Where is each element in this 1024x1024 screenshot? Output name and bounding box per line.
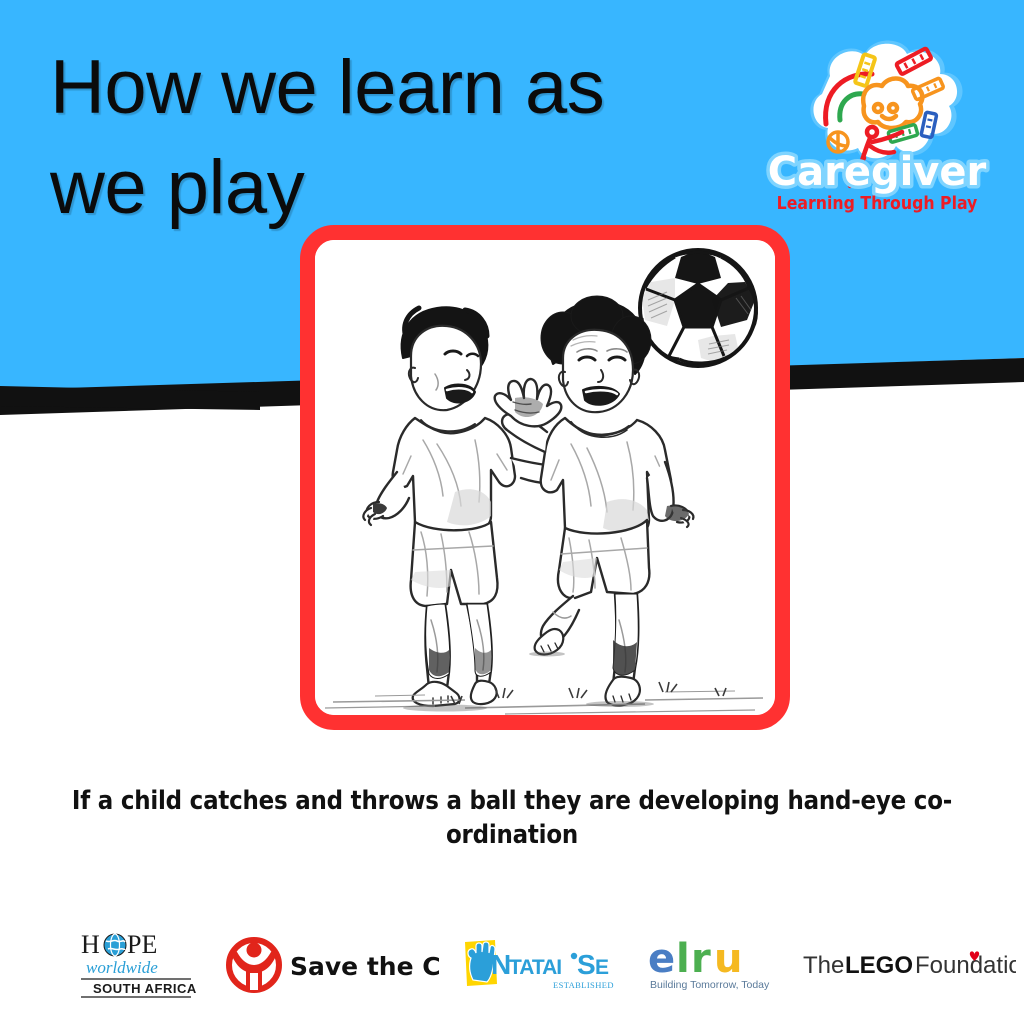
- elru-letter-l: l: [676, 936, 690, 982]
- elru-letter-e: e: [648, 936, 675, 982]
- lego-the-text: The: [803, 952, 844, 979]
- caregiver-tagline: Learning Through Play: [777, 194, 978, 214]
- hope-letters-pe: PE: [127, 930, 157, 959]
- partner-logo-strip: H PE worldwide SOUTH AFRICA: [0, 915, 1024, 1015]
- lego-lego-text: LEGO: [845, 952, 913, 979]
- child-in-circle-icon: [229, 940, 279, 990]
- page-title-line2: we play: [50, 138, 690, 238]
- elru-letter-u: u: [714, 936, 742, 982]
- caregiver-logo: Caregiver Caregiver Learning Through Pla…: [760, 28, 995, 218]
- hope-worldwide-south-africa-logo: H PE worldwide SOUTH AFRICA: [79, 929, 199, 1001]
- page-title-line1: How we learn as: [50, 38, 690, 138]
- ntataise-text-rest: TATAI: [509, 956, 561, 979]
- soccer-ball-icon: [640, 250, 756, 366]
- save-the-children-logo: Save the Children: [224, 935, 439, 995]
- save-the-children-text: Save the Children: [290, 952, 439, 981]
- ntataise-logo: N TATAI S E ESTABLISHED 1980: [461, 934, 616, 996]
- caregiver-wordmark: Caregiver: [768, 149, 987, 195]
- ntataise-established-text: ESTABLISHED 1980: [553, 980, 616, 990]
- page-title: How we learn as we play: [50, 38, 690, 239]
- the-lego-foundation-logo: The LEGO Foundation: [801, 941, 1016, 989]
- illustration-frame: [300, 225, 790, 730]
- hope-worldwide-text: worldwide: [86, 958, 158, 977]
- ntataise-text-e: E: [595, 956, 609, 979]
- caption-text: If a child catches and throws a ball the…: [62, 784, 962, 853]
- children-playing-ball-illustration: [315, 240, 775, 715]
- hope-south-africa-text: SOUTH AFRICA: [93, 981, 197, 996]
- hope-letter-h: H: [81, 930, 100, 959]
- ntataise-text-s: S: [577, 949, 596, 980]
- elru-logo: e l r u Building Tomorrow, Today: [646, 934, 771, 996]
- elru-letter-r: r: [691, 936, 711, 982]
- globe-icon: [104, 934, 126, 956]
- poster-canvas: How we learn as we play: [0, 0, 1024, 1024]
- elru-tagline: Building Tomorrow, Today: [650, 979, 770, 991]
- lego-foundation-text: Foundation: [915, 952, 1016, 979]
